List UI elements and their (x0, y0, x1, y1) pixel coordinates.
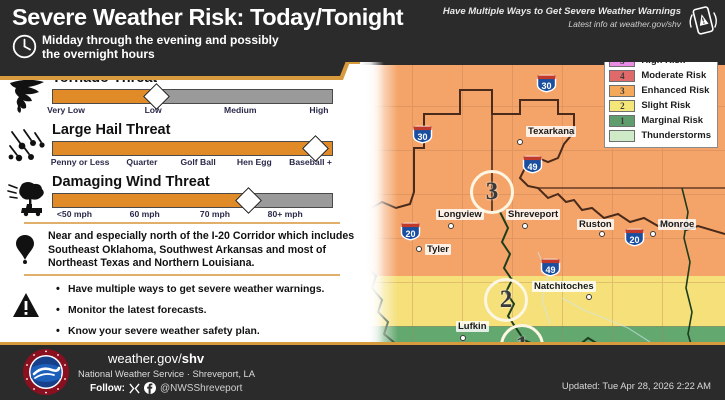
footer-follow: Follow: @NWSShreveport (90, 382, 242, 394)
gauge-tick-label: Hen Egg (237, 157, 272, 167)
highway-shield-i20-east: 20 (624, 228, 645, 247)
city-dot (650, 231, 656, 237)
city-label: Tyler (425, 244, 451, 255)
header-promo: Have Multiple Ways to Get Severe Weather… (443, 6, 681, 29)
gauge-tick-label: Very Low (47, 105, 85, 115)
footer-url-bold: shv (182, 351, 204, 366)
safety-bullet: Monitor the latest forecasts. (56, 305, 324, 317)
gauge-tick-label: 80+ mph (268, 209, 303, 219)
threat-name: Damaging Wind Threat (52, 174, 210, 190)
wind-gauge[interactable] (52, 193, 333, 208)
safety-bullet: Know your severe weather safety plan. (56, 326, 324, 338)
legend-item-thunderstorms: Thunderstorms (609, 128, 711, 143)
highway-shield-i30-west: 30 (412, 125, 433, 144)
clock-icon (12, 34, 37, 59)
legend-swatch: 4 (609, 70, 635, 82)
legend-item-moderate-risk: 4 Moderate Risk (609, 68, 711, 83)
tornado-gauge[interactable] (52, 89, 333, 104)
gauge-fill (53, 142, 332, 155)
header-subtitle: Midday through the evening and possibly … (42, 34, 279, 61)
x-twitter-icon[interactable] (129, 383, 140, 394)
highway-number: 30 (412, 129, 433, 144)
hail-gauge-labels: Penny or Less Quarter Golf Ball Hen Egg … (52, 157, 333, 169)
city-dot (460, 335, 466, 341)
facebook-icon[interactable] (144, 382, 156, 394)
nws-logo-icon (22, 348, 70, 396)
page-title: Severe Weather Risk: Today/Tonight (12, 4, 403, 31)
city-label: Shreveport (506, 209, 560, 220)
risk-legend[interactable]: 5 High Risk 4 Moderate Risk 3 Enhanced R… (604, 48, 718, 148)
divider-bottom (24, 274, 340, 276)
hail-gauge[interactable] (52, 141, 333, 156)
gauge-tick-label: Penny or Less (51, 157, 110, 167)
info-panel: Tornado Threat Very Low Low Medium High (0, 62, 362, 342)
legend-swatch: 2 (609, 100, 635, 112)
tornado-gauge-labels: Very Low Low Medium High (52, 105, 333, 117)
legend-label: Enhanced Risk (641, 85, 709, 96)
gauge-tick-label: Quarter (126, 157, 157, 167)
legend-label: Thunderstorms (641, 130, 711, 141)
safety-bullet: Have multiple ways to get severe weather… (56, 284, 324, 296)
highway-shield-i49-north: 49 (522, 155, 543, 174)
footer-url[interactable]: weather.gov/shv (108, 351, 204, 366)
footer-office: National Weather Service · Shreveport, L… (78, 368, 255, 379)
highway-number: 20 (624, 232, 645, 247)
tornado-icon (6, 74, 48, 116)
safety-list: Have multiple ways to get severe weather… (56, 284, 324, 347)
city-dot (517, 139, 523, 145)
highway-number: 49 (540, 262, 561, 277)
weather-graphic: 3 2 1 Texarkana El Dorado Longview Shrev… (0, 0, 725, 400)
footer-updated: Updated: Tue Apr 28, 2026 2:22 AM (562, 380, 711, 391)
hail-icon (6, 126, 48, 168)
gauge-tick-label: Baseball + (289, 157, 332, 167)
footer-gold-rule (0, 342, 725, 345)
header-subtitle-line1: Midday through the evening and possibly (42, 34, 279, 48)
city-dot (586, 294, 592, 300)
phone-alert-icon (687, 4, 719, 38)
location-note-text: Near and especially north of the I-20 Co… (48, 230, 356, 271)
gauge-tick-label: Low (145, 105, 162, 115)
legend-item-slight-risk: 2 Slight Risk (609, 98, 711, 113)
map-pin-icon (14, 234, 36, 264)
gauge-tick-label: 70 mph (200, 209, 230, 219)
gauge-fill (53, 90, 156, 103)
gauge-fill (53, 194, 248, 207)
risk-circle-3: 3 (470, 170, 514, 214)
highway-shield-i20-west: 20 (400, 222, 421, 241)
risk-circle-2: 2 (484, 278, 528, 322)
legend-swatch (609, 130, 635, 142)
header-promo-line2: Latest info at weather.gov/shv (443, 19, 681, 29)
highway-number: 30 (536, 78, 557, 93)
footer-url-plain: weather.gov/ (108, 351, 182, 366)
wind-tree-icon (6, 178, 48, 220)
warning-triangle-icon (12, 292, 40, 318)
highway-shield-i30-north: 30 (536, 74, 557, 93)
city-label: Ruston (577, 219, 614, 230)
legend-swatch: 1 (609, 115, 635, 127)
city-dot (416, 246, 422, 252)
gauge-tick-label: Golf Ball (180, 157, 215, 167)
city-label: Natchitoches (532, 281, 596, 292)
city-dot (599, 231, 605, 237)
legend-item-marginal-risk: 1 Marginal Risk (609, 113, 711, 128)
header-promo-line1: Have Multiple Ways to Get Severe Weather… (443, 6, 681, 17)
footer-follow-label: Follow: (90, 383, 125, 394)
divider-top (24, 222, 340, 224)
legend-item-enhanced-risk: 3 Enhanced Risk (609, 83, 711, 98)
legend-label: Marginal Risk (641, 115, 703, 126)
city-label: Lufkin (456, 321, 489, 332)
city-label: Texarkana (526, 126, 576, 137)
city-label: Monroe (658, 219, 696, 230)
footer-handle: @NWSShreveport (160, 383, 242, 394)
gauge-tick-label: <50 mph (57, 209, 92, 219)
gauge-tick-label: 60 mph (130, 209, 160, 219)
gauge-tick-label: High (309, 105, 328, 115)
footer-bar: weather.gov/shv National Weather Service… (0, 342, 725, 400)
wind-gauge-labels: <50 mph 60 mph 70 mph 80+ mph (52, 209, 333, 221)
header-subtitle-line2: the overnight hours (42, 48, 279, 62)
legend-swatch: 3 (609, 85, 635, 97)
highway-number: 20 (400, 226, 421, 241)
city-label: Longview (436, 209, 484, 220)
legend-label: Moderate Risk (641, 70, 706, 81)
highway-shield-i49-south: 49 (540, 258, 561, 277)
city-dot (448, 223, 454, 229)
city-dot (522, 223, 528, 229)
threat-name: Large Hail Threat (52, 122, 170, 138)
legend-label: Slight Risk (641, 100, 690, 111)
highway-number: 49 (522, 159, 543, 174)
gauge-tick-label: Medium (224, 105, 256, 115)
